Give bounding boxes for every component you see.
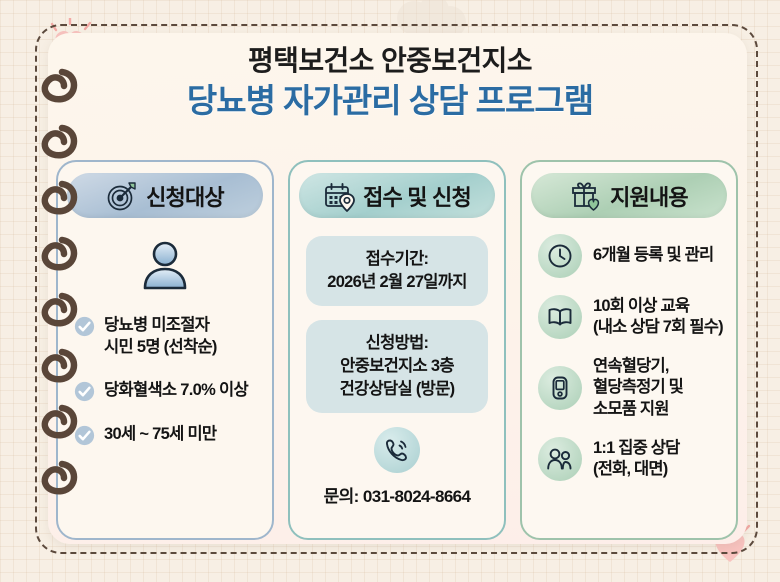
card-application-header: 접수 및 신청 [299, 173, 495, 218]
list-item-label: 30세 ~ 75세 미만 [104, 423, 216, 445]
contact-phone-number: 문의: 031-8024-8664 [290, 482, 504, 507]
feature-badge [538, 295, 582, 339]
list-item: 당화혈색소 7.0% 이상 [74, 379, 258, 402]
application-period-box: 접수기간: 2026년 2월 27일까지 [306, 236, 488, 306]
application-method-box: 신청방법: 안중보건지소 3층 건강상담실 (방문) [306, 320, 488, 413]
card-application-title: 접수 및 신청 [363, 180, 471, 212]
card-eligibility: 신청대상 [56, 160, 274, 540]
card-eligibility-title: 신청대상 [146, 180, 224, 212]
card-row: 신청대상 [56, 160, 738, 540]
card-support-title: 지원내용 [610, 180, 688, 212]
glucose-meter-icon [547, 375, 573, 401]
list-item: 30세 ~ 75세 미만 [74, 423, 258, 446]
feature-badge [538, 234, 582, 278]
target-dart-icon [106, 180, 138, 212]
feature-badge [538, 437, 582, 481]
two-people-icon [546, 446, 574, 472]
list-item-label: 6개월 등록 및 관리 [593, 245, 713, 266]
clock-icon [547, 243, 573, 269]
spiral-binding-icon [22, 54, 84, 524]
phone-call-icon [384, 437, 410, 463]
title-line-1: 평택보건소 안중보건지소 [0, 44, 780, 78]
person-icon-wrap [58, 238, 272, 296]
list-item: 당뇨병 미조절자 시민 5명 (선착순) [74, 314, 258, 358]
list-item: 연속혈당기, 혈당측정기 및 소모품 지원 [538, 356, 724, 420]
feature-badge [538, 366, 582, 410]
card-support: 지원내용 6개월 등록 및 관리 [520, 160, 738, 540]
title-line-2: 당뇨병 자가관리 상담 프로그램 [0, 81, 780, 122]
card-application: 접수 및 신청 접수기간: 2026년 2월 27일까지 신청방법: 안중보건지… [288, 160, 506, 540]
list-item: 6개월 등록 및 관리 [538, 234, 724, 278]
calendar-location-icon [323, 180, 355, 212]
open-book-icon [547, 304, 573, 330]
poster-title: 평택보건소 안중보건지소 당뇨병 자가관리 상담 프로그램 [0, 44, 780, 122]
list-item-label: 당뇨병 미조절자 시민 5명 (선착순) [104, 314, 217, 358]
person-icon [136, 238, 194, 296]
list-item: 10회 이상 교육 (내소 상담 7회 필수) [538, 295, 724, 339]
phone-badge-wrap [290, 427, 504, 473]
phone-badge [374, 427, 420, 473]
support-feature-list: 6개월 등록 및 관리 10회 이상 교육 (내소 상담 7회 필수) [522, 216, 736, 481]
poster-background: 평택보건소 안중보건지소 당뇨병 자가관리 상담 프로그램 신청대상 [0, 0, 780, 582]
gift-heart-icon [570, 180, 602, 212]
eligibility-bullet-list: 당뇨병 미조절자 시민 5명 (선착순) 당화혈색소 7.0% 이상 30세 ~… [58, 314, 272, 446]
list-item-label: 당화혈색소 7.0% 이상 [104, 379, 248, 401]
list-item: 1:1 집중 상담 (전화, 대면) [538, 437, 724, 481]
card-eligibility-header: 신청대상 [67, 173, 263, 218]
list-item-label: 연속혈당기, 혈당측정기 및 소모품 지원 [593, 356, 683, 420]
list-item-label: 1:1 집중 상담 (전화, 대면) [593, 438, 680, 481]
card-support-header: 지원내용 [531, 173, 727, 218]
list-item-label: 10회 이상 교육 (내소 상담 7회 필수) [593, 296, 723, 339]
